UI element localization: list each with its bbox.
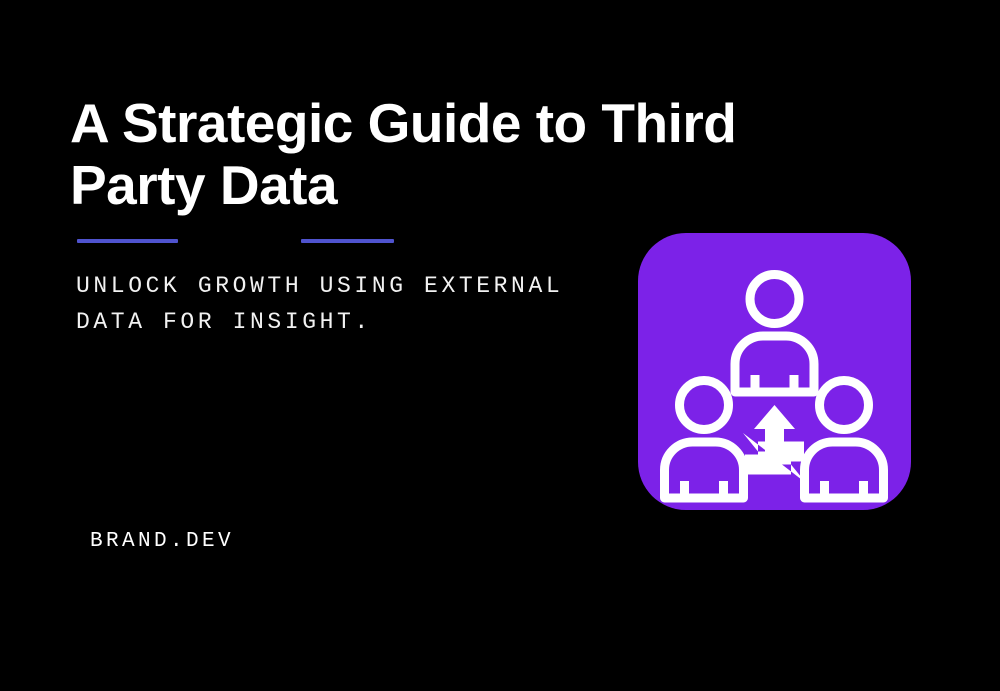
exchange-arrows-group [743,405,806,483]
page-title: A Strategic Guide to Third Party Data [70,93,830,216]
slide-canvas: A Strategic Guide to Third Party Data UN… [0,0,1000,691]
icon-card [638,233,911,510]
brand-wordmark: BRAND.DEV [90,530,234,553]
person-bottom-right-icon [805,381,884,499]
divider-line-right [301,239,394,243]
person-top-icon [735,275,814,393]
divider-line-left [77,239,178,243]
text-column: A Strategic Guide to Third Party Data UN… [70,93,590,216]
three-people-network-exchange-icon [638,233,911,510]
subtitle: UNLOCK GROWTH USING EXTERNAL DATA FOR IN… [76,268,596,340]
divider-group [70,239,410,245]
person-bottom-left-icon [665,381,744,499]
